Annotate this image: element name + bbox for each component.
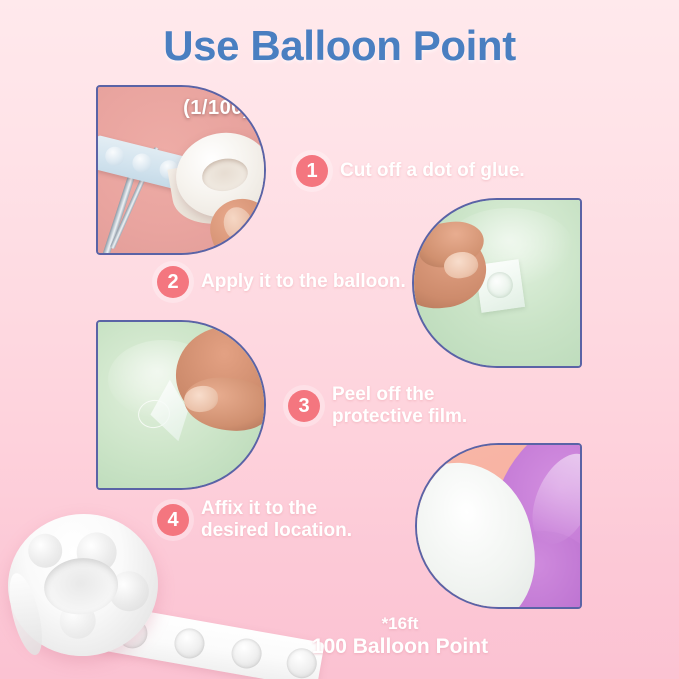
step-label-3: Peel off the protective film. [332, 384, 467, 429]
glue-dot [27, 532, 64, 569]
product-quantity-label: 100 Balloon Point [200, 635, 600, 659]
step-label-1: Cut off a dot of glue. [340, 160, 525, 182]
page-title: Use Balloon Point [0, 22, 679, 70]
quantity-overlay-label: (1/100) [183, 97, 250, 120]
step-label-2: Apply it to the balloon. [201, 271, 406, 293]
tape-roll-edge [3, 570, 49, 658]
product-length-label: *16ft [200, 614, 600, 634]
glue-dot [75, 530, 119, 574]
step-row-1: 1 Cut off a dot of glue. [296, 155, 525, 187]
step-number-badge-1: 1 [296, 155, 328, 187]
step-row-3: 3 Peel off the protective film. [288, 384, 467, 429]
step-number-badge-3: 3 [288, 390, 320, 422]
step-row-2: 2 Apply it to the balloon. [157, 266, 406, 298]
infographic-page: Use Balloon Point (1/100) [0, 0, 679, 679]
panel-apply-to-balloon-image [414, 200, 580, 366]
panel-peel-film [96, 320, 266, 490]
panel-affix-location [415, 443, 582, 609]
product-caption: *16ft 100 Balloon Point [200, 614, 600, 659]
panel-peel-film-image [98, 322, 264, 488]
panel-cut-glue-dot: (1/100) [96, 85, 266, 255]
panel-affix-location-image [417, 445, 580, 607]
glue-dot [103, 145, 126, 168]
glue-dot [58, 601, 98, 641]
step-number-badge-2: 2 [157, 266, 189, 298]
glue-dot [130, 151, 153, 174]
glue-dot [107, 569, 151, 613]
panel-apply-to-balloon [412, 198, 582, 368]
